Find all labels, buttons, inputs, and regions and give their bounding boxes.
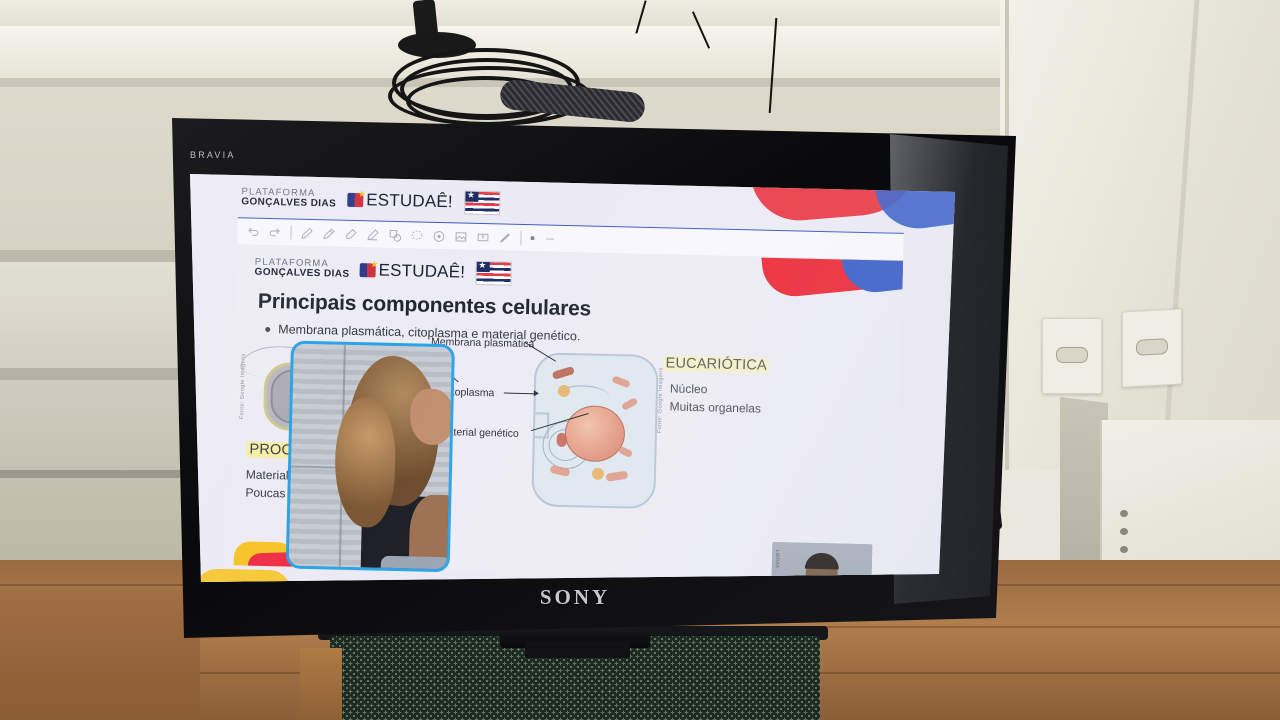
logo-line-2: GONÇALVES DIAS <box>241 197 336 209</box>
collapse-icon[interactable] <box>543 232 556 245</box>
undo-icon[interactable] <box>246 225 259 238</box>
presenter-jeans <box>380 556 451 573</box>
text-box-icon[interactable] <box>476 230 489 243</box>
slide-title: Principais componentes celulares <box>258 290 592 322</box>
pencil-icon[interactable] <box>322 227 335 240</box>
lysosome <box>557 433 567 447</box>
lasso-icon[interactable] <box>410 229 423 242</box>
shapes-icon[interactable] <box>388 228 401 241</box>
estudae-logo: ESTUDAÊ! <box>347 190 453 212</box>
wooden-panel <box>300 648 342 720</box>
laser-pointer-icon[interactable] <box>432 229 445 242</box>
brand-label: ESTUDAÊ! <box>366 190 453 212</box>
ceiling <box>0 0 1030 26</box>
mitochondrion <box>618 446 634 458</box>
presenter-hair <box>334 397 397 528</box>
marker-icon[interactable] <box>498 231 511 244</box>
slide-brand-label: ESTUDAÊ! <box>378 261 465 283</box>
book-icon <box>347 193 363 207</box>
highlighter-icon[interactable] <box>366 228 379 241</box>
mitochondrion <box>605 471 628 482</box>
eukaryote-heading: EUCARIÓTICA <box>662 355 770 374</box>
slide-logo-row: PLATAFORMA GONÇALVES DIAS ESTUDAÊ! <box>254 256 511 286</box>
right-wall <box>1000 0 1280 470</box>
presenter-video[interactable] <box>286 340 455 572</box>
book-icon <box>359 263 375 277</box>
maranhao-flag-icon <box>464 191 501 216</box>
leader-arrow <box>534 390 539 396</box>
mitochondrion <box>552 366 575 380</box>
wall-outlet <box>1042 318 1102 394</box>
wall-outlet <box>1122 308 1182 387</box>
image-icon[interactable] <box>454 230 467 243</box>
photo-of-classroom-tv: BRAVIA SONY PLATAFORMA <box>0 0 1280 720</box>
sony-logo: SONY <box>540 585 610 610</box>
tv-stand-base <box>525 642 630 658</box>
slide-bullet-text: Membrana plasmática, citoplasma e materi… <box>278 322 580 343</box>
pen-icon[interactable] <box>300 226 313 239</box>
eukaryote-line-1: Núcleo <box>670 381 708 396</box>
leader-line <box>504 393 538 395</box>
nucleus <box>564 405 625 462</box>
platform-logo: PLATAFORMA GONÇALVES DIAS ESTUDAÊ! <box>241 185 500 215</box>
mitochondrion <box>621 397 638 411</box>
eraser-icon[interactable] <box>344 227 357 240</box>
eukaryote-cell-diagram <box>531 352 659 509</box>
leader-line <box>525 342 556 362</box>
vesicle <box>592 468 604 480</box>
eukaryote-line-2: Muitas organelas <box>669 399 761 415</box>
slide-logo-line-2: GONÇALVES DIAS <box>254 267 349 279</box>
interpreter-watermark: LIBRAS <box>774 550 780 568</box>
more-options-icon[interactable] <box>530 236 534 240</box>
tv-screen: PLATAFORMA GONÇALVES DIAS ESTUDAÊ! <box>187 170 957 582</box>
presenter-face <box>410 388 455 445</box>
slide-estudae-logo: ESTUDAÊ! <box>359 260 465 282</box>
decor-shape-yellow <box>194 568 291 582</box>
maranhao-flag-icon <box>475 261 512 286</box>
redo-icon[interactable] <box>268 225 281 238</box>
sony-bravia-television: BRAVIA SONY PLATAFORMA <box>130 118 1020 638</box>
mitochondrion <box>611 375 630 388</box>
bullet-dot-icon <box>265 326 270 331</box>
presentation-app: PLATAFORMA GONÇALVES DIAS ESTUDAÊ! <box>187 170 957 582</box>
bravia-logo: BRAVIA <box>190 150 236 160</box>
